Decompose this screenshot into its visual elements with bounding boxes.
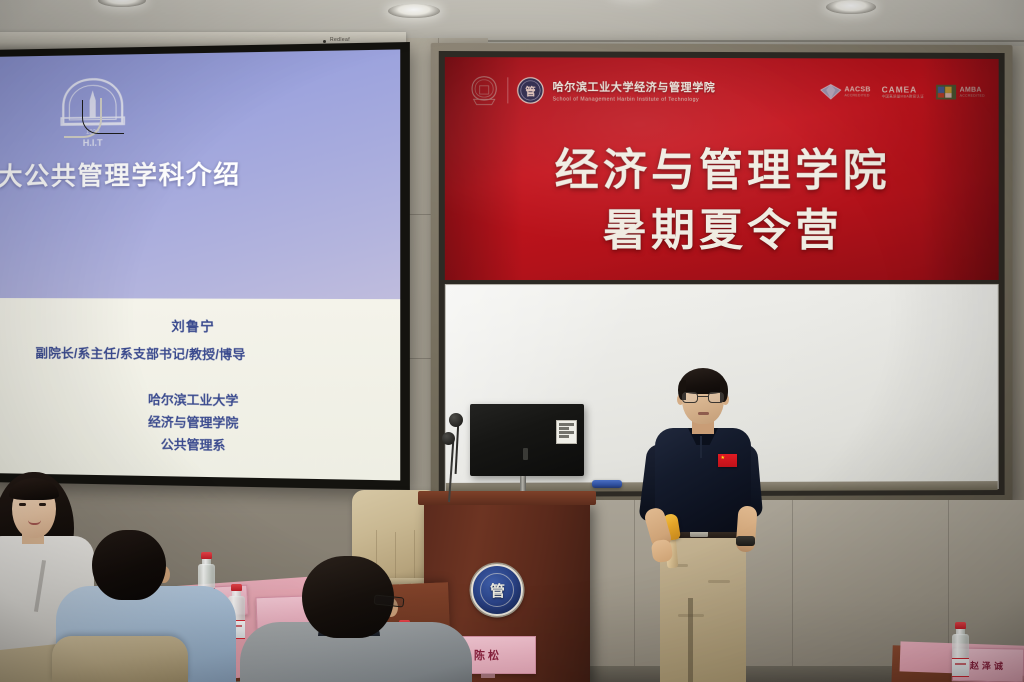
- blue-marker[interactable]: [592, 480, 622, 488]
- accreditation-camea: CAMEA 中国高质量MBA教育认证: [882, 84, 924, 99]
- man-blue-head: [92, 530, 166, 600]
- monitor-asset-label: [556, 420, 577, 444]
- wall-seam: [634, 500, 635, 682]
- presentation-slide: 1920 H.I.T 工大公共管理学科介绍 刘鲁宁 副院长/系主任/系支部书记/…: [0, 49, 400, 480]
- accreditation-name: AMBA: [960, 86, 985, 93]
- monitor-cable-black: [82, 100, 124, 134]
- lens-left: [682, 392, 698, 403]
- speaker-person: ★: [636, 366, 768, 682]
- label-line: [559, 423, 574, 426]
- wall-seam: [792, 500, 793, 682]
- label-line: [559, 427, 569, 430]
- school-seal-icon: 管: [516, 76, 544, 104]
- svg-text:管: 管: [525, 85, 536, 98]
- university-crest-icon: [469, 74, 499, 106]
- ceiling-light-3: [826, 0, 876, 14]
- speaker-mouth: [698, 412, 709, 415]
- fabric-fold: [708, 580, 730, 583]
- svg-text:H.I.T: H.I.T: [83, 138, 103, 148]
- accreditation-logos: AACSB ACCREDITED CAMEA 中国高质量MBA教育认证: [820, 83, 985, 100]
- slide-presenter-name: 刘鲁宁: [0, 315, 400, 336]
- monitor-mount-notch: [523, 448, 528, 460]
- name-card-text: 陈松: [474, 647, 502, 663]
- name-card-text: 赵泽诚: [970, 658, 1006, 672]
- projection-screen: 1920 H.I.T 工大公共管理学科介绍 刘鲁宁 副院长/系主任/系支部书记/…: [0, 42, 410, 490]
- housing-brand-label: Redleaf: [330, 37, 350, 43]
- trouser-leg-gap: [688, 598, 693, 682]
- accreditation-amba: AMBA ACCREDITED: [935, 83, 985, 100]
- bottle-body: [952, 634, 969, 676]
- banner-title-line1: 经济与管理学院: [445, 133, 999, 198]
- accreditation-camea-text: CAMEA 中国高质量MBA教育认证: [882, 84, 924, 99]
- wristwatch: [736, 536, 755, 546]
- diamond-icon: [820, 83, 842, 100]
- bottle-label: [952, 658, 969, 677]
- podium-top-surface: [418, 491, 596, 505]
- banner-org-en: School of Management Harbin Institute of…: [553, 97, 716, 103]
- eyeglasses: [681, 392, 725, 404]
- banner-org-cn: 哈尔滨工业大学经济与管理学院: [553, 78, 716, 95]
- card-stand: [481, 673, 495, 678]
- label-line: [559, 435, 569, 438]
- foreground-chair-center[interactable]: [52, 636, 188, 682]
- banner-title-line2: 暑期夏令营: [445, 194, 999, 258]
- attendee-man-gray-shirt: [266, 556, 466, 682]
- slide-title: 工大公共管理学科介绍: [0, 154, 309, 193]
- bottle-cap: [231, 584, 242, 591]
- chinese-flag-badge: ★: [718, 454, 737, 467]
- event-banner: 管 哈尔滨工业大学经济与管理学院 School of Management Ha…: [445, 57, 999, 280]
- accreditation-name: CAMEA: [882, 84, 924, 94]
- banner-header: 管 哈尔滨工业大学经济与管理学院 School of Management Ha…: [469, 73, 985, 109]
- accreditation-sub: ACCREDITED: [960, 93, 985, 97]
- slide-presenter-role: 副院长/系主任/系支部书记/教授/博导: [0, 342, 345, 364]
- gooseneck-microphone-icon: [449, 413, 463, 427]
- label-line: [559, 431, 574, 434]
- woman-eye-left: [19, 503, 26, 506]
- podium-emblem-glyph: 管: [473, 580, 521, 601]
- amba-icon: [935, 83, 957, 100]
- conference-room-scene: 管 哈尔滨工业大学经济与管理学院 School of Management Ha…: [0, 0, 1024, 682]
- woman-eye-right: [39, 503, 46, 506]
- accreditation-sub: ACCREDITED: [844, 93, 870, 97]
- shirt-placket: [700, 436, 702, 458]
- flag-star-icon: ★: [721, 456, 725, 461]
- podium-emblem: 管: [471, 564, 523, 616]
- accreditation-aacsb: AACSB ACCREDITED: [820, 83, 871, 100]
- bottle-cap: [955, 622, 966, 629]
- podium-microphone-icon: [442, 432, 455, 445]
- accreditation-sub: 中国高质量MBA教育认证: [882, 94, 924, 99]
- banner-org-text: 哈尔滨工业大学经济与管理学院 School of Management Harb…: [553, 78, 716, 103]
- presenter-monitor[interactable]: [470, 404, 584, 476]
- ceiling-light-2: [388, 4, 440, 18]
- glasses-bridge: [698, 396, 708, 397]
- bottle-label-mark: [955, 663, 966, 665]
- housing-indicator-icon: [323, 40, 326, 43]
- header-divider: [507, 77, 508, 103]
- accreditation-amba-text: AMBA ACCREDITED: [960, 86, 985, 97]
- accreditation-aacsb-text: AACSB ACCREDITED: [844, 86, 870, 97]
- lens-right: [708, 392, 724, 403]
